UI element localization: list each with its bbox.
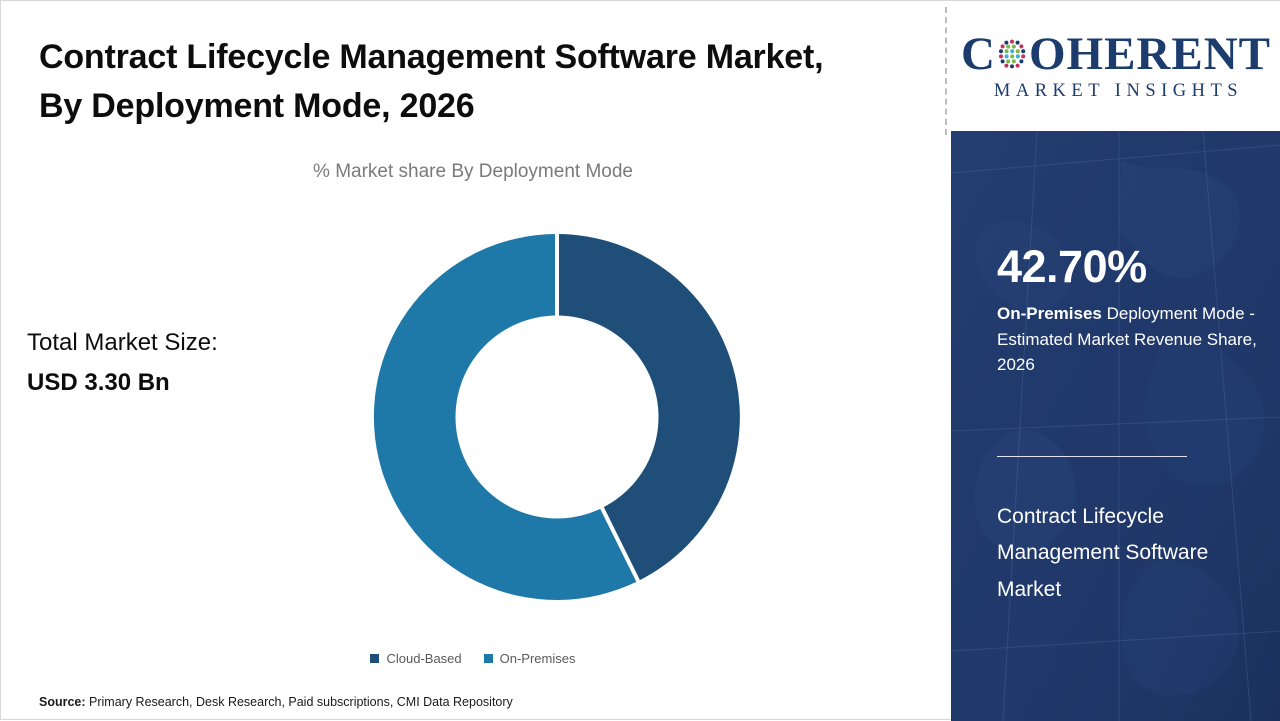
legend-swatch-icon-cloud-based <box>370 654 379 663</box>
legend-item-cloud-based[interactable]: Cloud-Based <box>370 651 461 666</box>
infographic-root: Contract Lifecycle Management Software M… <box>0 0 1280 720</box>
stat-description: On-Premises Deployment Mode - Estimated … <box>997 301 1259 378</box>
donut-label-on-premises: 57.3% <box>389 672 432 689</box>
legend-swatch-icon-on-premises <box>484 654 493 663</box>
chart-subtitle: % Market share By Deployment Mode <box>1 161 945 183</box>
horizontal-rule <box>997 456 1187 457</box>
donut-chart-svg <box>371 231 743 603</box>
logo-wordmark: OHERENT <box>1029 31 1271 78</box>
left-content-panel: Contract Lifecycle Management Software M… <box>1 1 945 721</box>
logo-letter-c: C <box>961 31 996 78</box>
legend-item-on-premises[interactable]: On-Premises <box>484 651 576 666</box>
donut-hole <box>456 316 659 519</box>
donut-chart: 42.7% 57.3% <box>371 231 743 603</box>
globe-dots-icon <box>996 38 1028 70</box>
chart-legend: Cloud-Based On-Premises <box>1 651 945 666</box>
legend-label-on-premises: On-Premises <box>500 651 576 666</box>
vertical-divider <box>945 7 947 135</box>
total-market-size-value: USD 3.30 Bn <box>27 363 327 403</box>
donut-label-cloud-based: 42.7% <box>676 605 719 622</box>
brand-logo: C <box>951 1 1280 131</box>
logo-wordmark-row: C <box>961 31 1271 78</box>
source-note: Source: Primary Research, Desk Research,… <box>39 695 513 709</box>
market-name: Contract Lifecycle Management Software M… <box>997 499 1262 608</box>
source-prefix: Source: <box>39 695 86 709</box>
stat-value: 42.70% <box>997 241 1147 293</box>
right-sidebar: C <box>951 1 1280 721</box>
stat-description-highlight: On-Premises <box>997 304 1102 323</box>
total-market-size-label: Total Market Size: <box>27 323 327 363</box>
stat-panel: 42.70% On-Premises Deployment Mode - Est… <box>951 131 1280 721</box>
logo-tagline: MARKET INSIGHTS <box>989 81 1243 102</box>
page-title: Contract Lifecycle Management Software M… <box>39 33 839 132</box>
source-text: Primary Research, Desk Research, Paid su… <box>86 695 513 709</box>
world-map-backdrop-icon <box>951 131 1280 721</box>
legend-label-cloud-based: Cloud-Based <box>386 651 461 666</box>
total-market-size: Total Market Size: USD 3.30 Bn <box>27 323 327 402</box>
